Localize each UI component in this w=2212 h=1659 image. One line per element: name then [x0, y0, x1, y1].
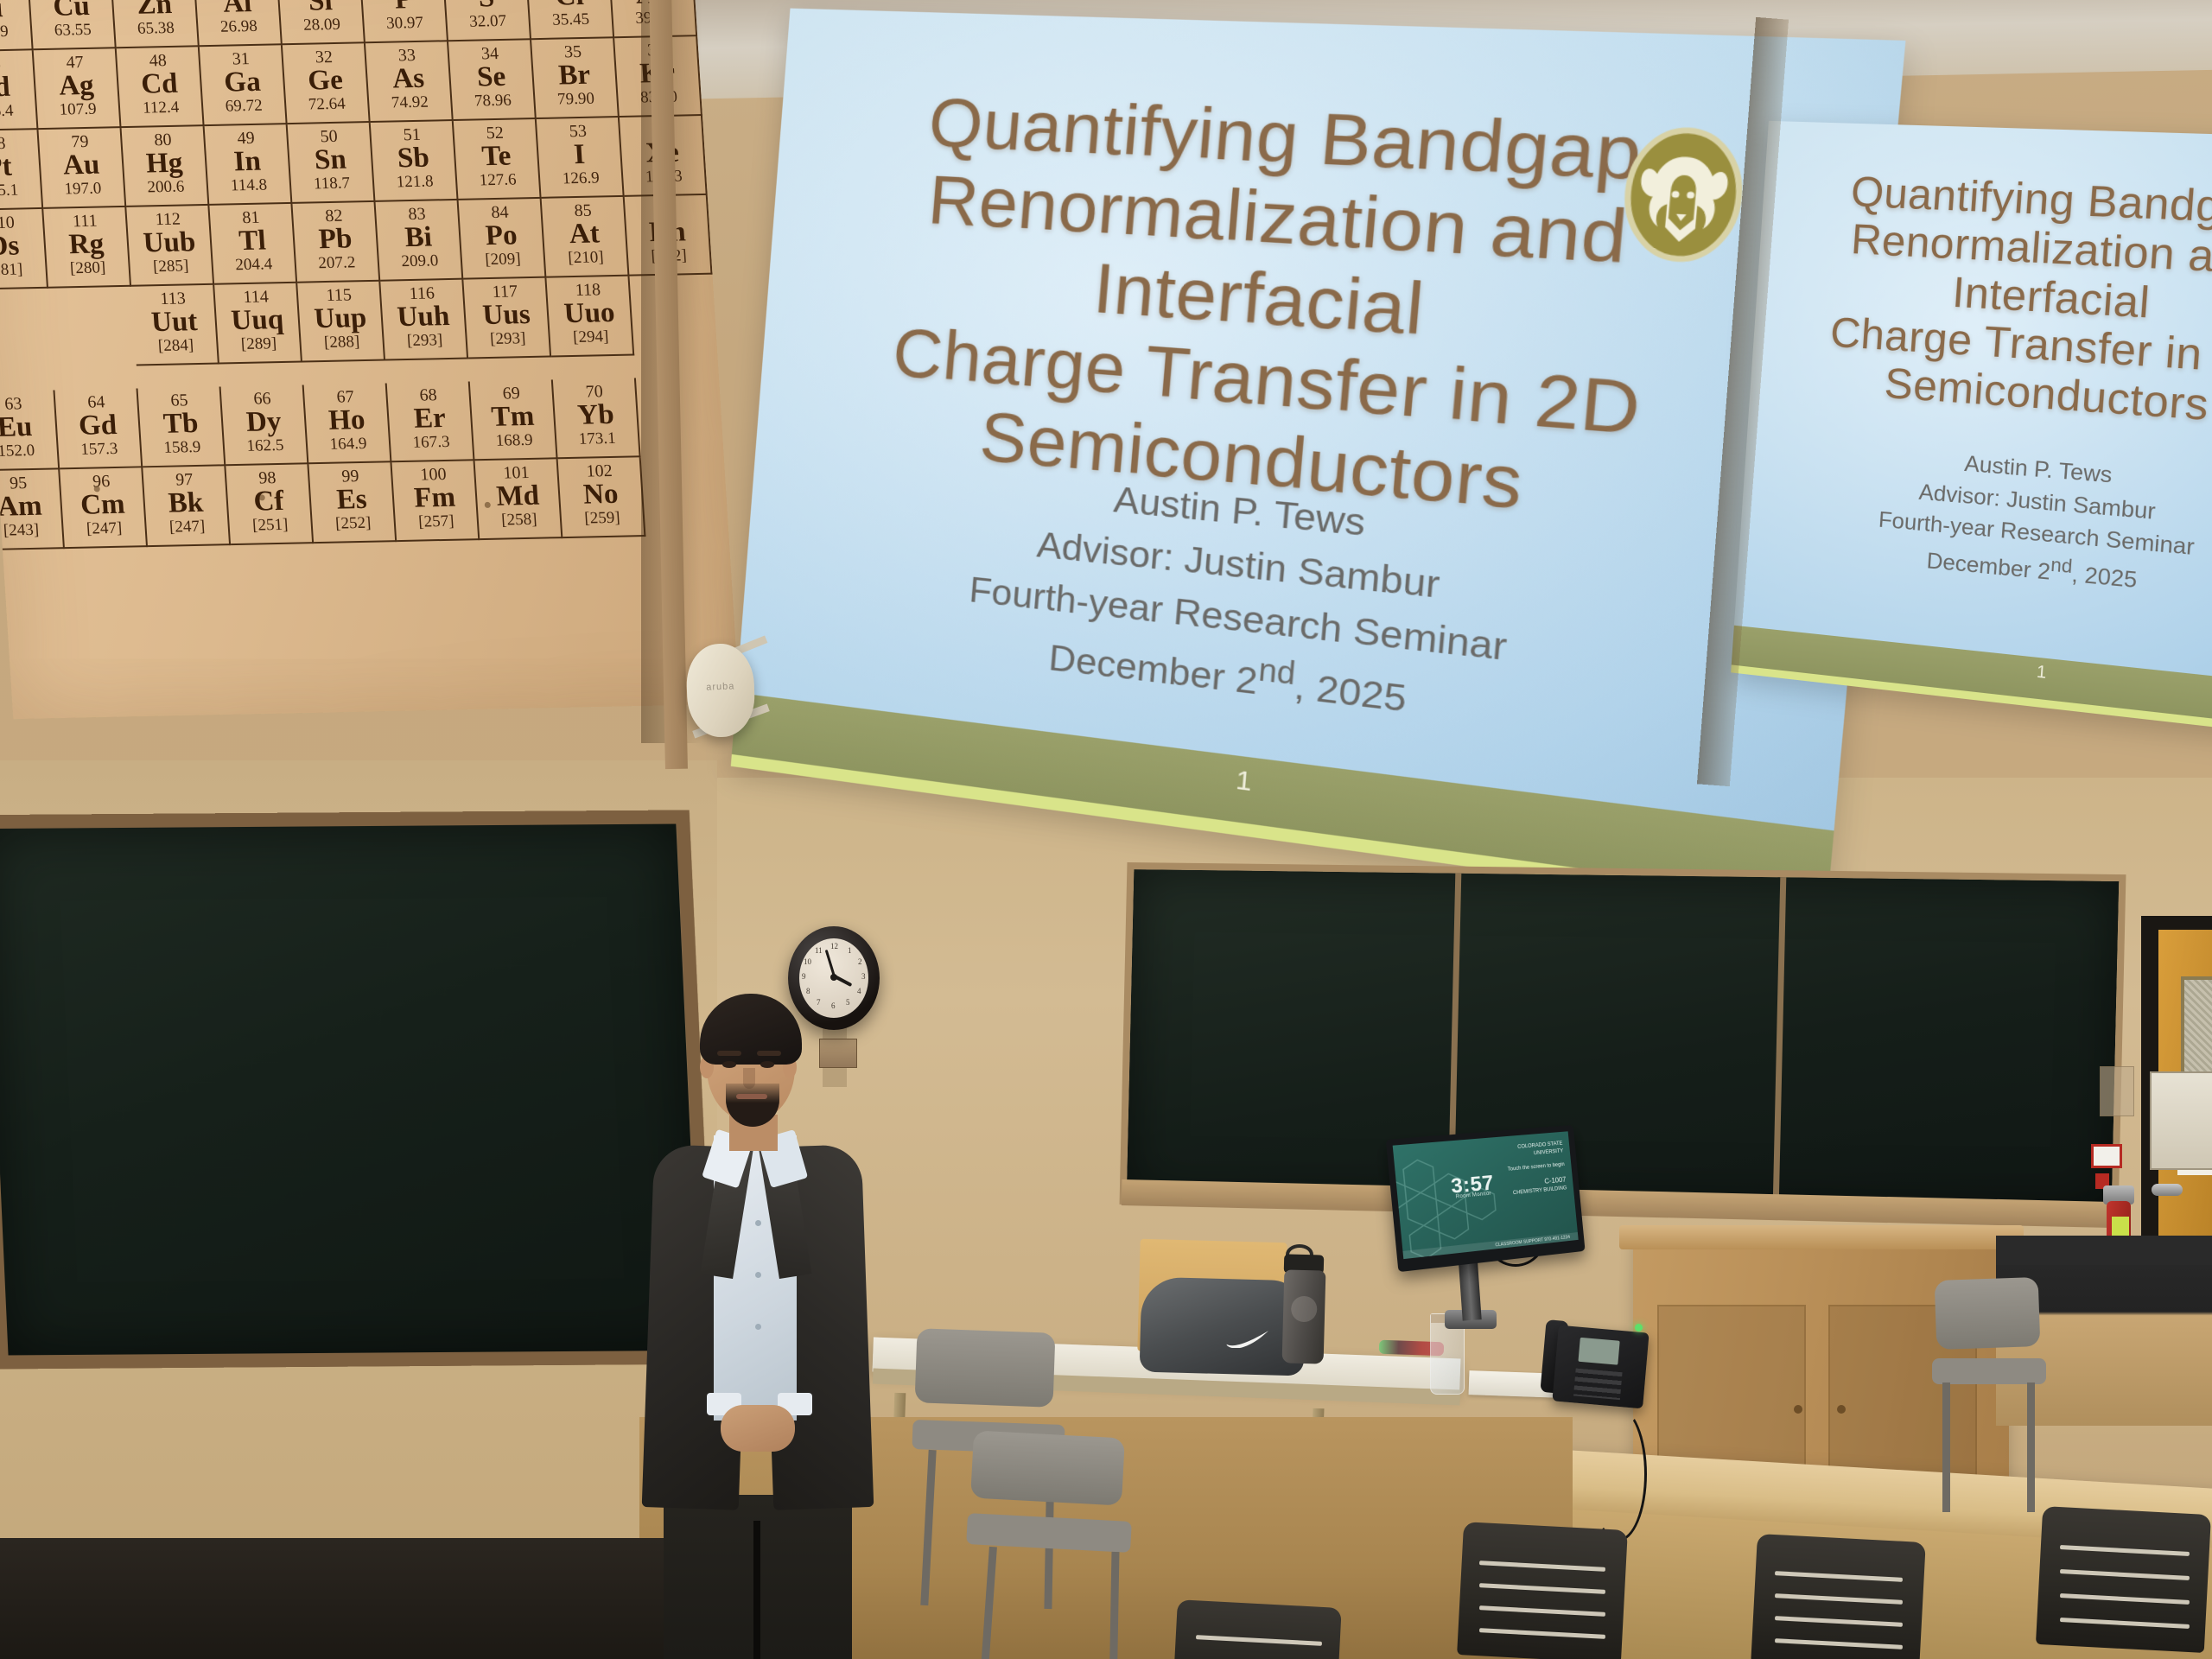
pt-atomic-number: 33 [365, 41, 448, 65]
floor-shadow-left [0, 1538, 674, 1659]
pt-atomic-number: 51 [371, 121, 454, 144]
pt-atomic-mass: 168.9 [474, 431, 556, 451]
pt-cell-Ds: 110Ds[281] [0, 209, 48, 290]
pt-atomic-mass: 107.9 [36, 100, 118, 120]
nike-backpack[interactable] [1140, 1277, 1306, 1376]
pt-atomic-mass: [247] [63, 519, 145, 539]
pt-cell-Yb: 70Yb173.1 [553, 378, 641, 459]
slide-title-secondary: Quantifying Bandgap Renormalization and … [1750, 166, 2212, 444]
pt-atomic-number: 118 [546, 276, 629, 300]
pt-symbol: Po [460, 220, 543, 252]
presenter [646, 994, 871, 1659]
pt-atomic-mass: 162.5 [224, 436, 306, 456]
projection-area: Quantifying Bandgap Renormalization and … [760, 0, 2212, 812]
slide-number: 1 [1235, 765, 1254, 798]
pt-atomic-number: 50 [288, 123, 371, 146]
pt-atomic-mass: 158.9 [141, 438, 223, 458]
pt-atomic-mass: [280] [47, 258, 129, 278]
pt-symbol: Am [0, 491, 61, 523]
chalkboard-right [1120, 862, 2126, 1217]
poster-screw [485, 502, 491, 508]
pt-cell-Bk: 97Bk[247] [143, 466, 231, 547]
pt-symbol: Ho [305, 404, 388, 436]
pt-cell-Pt: 78Pt195.1 [0, 130, 43, 211]
presenter-mouth [736, 1094, 767, 1099]
shirt-button [755, 1324, 761, 1330]
pt-cell-Se: 34Se78.96 [448, 40, 537, 121]
pt-symbol: Cd [118, 68, 200, 100]
pt-cell-Pb: 82Pb207.2 [292, 202, 380, 283]
monitor-prompt: Touch the screen to begin [1508, 1161, 1566, 1174]
phone-keypad[interactable] [1573, 1369, 1623, 1401]
pt-atomic-mass: [257] [395, 512, 477, 532]
pt-cell-Es: 99Es[252] [308, 462, 397, 543]
pt-symbol: Bk [144, 487, 227, 519]
poster-board: 98B108B111B122B27Co58.9328Ni58.6929Cu63.… [0, 0, 740, 719]
pt-cell-As: 33As74.92 [365, 41, 454, 123]
pt-atomic-mass: 204.4 [213, 255, 295, 275]
clock-numeral: 2 [858, 957, 862, 966]
pt-atomic-number: 53 [537, 118, 620, 141]
pt-symbol: Rg [45, 229, 128, 261]
pt-atomic-number: 35 [531, 38, 614, 61]
pt-symbol: Gd [56, 410, 139, 442]
clock-numeral: 9 [802, 972, 806, 981]
clock-numeral: 3 [861, 972, 866, 981]
pt-atomic-number: 78 [0, 130, 38, 153]
phone-display [1578, 1338, 1619, 1365]
pt-cell-Cu: 29Cu63.55 [29, 0, 117, 50]
pt-cell-Am: 95Am[243] [0, 469, 65, 550]
pt-atomic-mass: 74.92 [369, 93, 451, 113]
lecture-hall-scene: 98B108B111B122B27Co58.9328Ni58.6929Cu63.… [0, 0, 2212, 1659]
pt-symbol: Uut [133, 307, 216, 339]
pt-symbol: Pd [0, 72, 35, 104]
monitor-screen[interactable]: 3:57 Room Monitor COLORADO STATE UNIVERS… [1393, 1131, 1579, 1259]
pt-symbol: Dy [222, 406, 305, 438]
pt-symbol: Uuq [216, 305, 299, 337]
nike-swoosh-icon [1225, 1331, 1270, 1348]
desk-phone[interactable] [1552, 1325, 1649, 1409]
pt-atomic-mass: [209] [461, 250, 543, 270]
pt-row: 94Pu[224]95Am[243]96Cm[247]97Bk[247]98Cf… [0, 455, 729, 552]
pt-atomic-mass: [284] [135, 336, 217, 356]
pt-symbol: Zn [113, 0, 196, 21]
slide-number: 1 [2036, 663, 2047, 683]
projection-screen-secondary: Quantifying Bandgap Renormalization and … [1731, 121, 2212, 746]
pt-cell-Hg: 80Hg200.6 [122, 126, 210, 207]
pt-atomic-number: 83 [376, 200, 459, 224]
clock-minute-hand [825, 950, 836, 976]
pt-atomic-mass: 72.64 [286, 95, 368, 115]
pt-atomic-mass: [259] [561, 509, 643, 529]
pt-atomic-number: 99 [308, 462, 391, 486]
pt-symbol: Uus [465, 300, 548, 332]
bottle-logo [1291, 1296, 1318, 1323]
pt-cell-Ni: 28Ni58.69 [0, 0, 34, 52]
chair-back [1935, 1277, 2041, 1350]
pt-symbol: Uuh [382, 302, 465, 334]
chair-back [1173, 1599, 1341, 1659]
pt-cell-Ga: 31Ga69.72 [200, 45, 288, 126]
pt-atomic-number: 95 [0, 469, 60, 493]
pt-atomic-number: 115 [297, 282, 380, 305]
pt-cell-Sn: 50Sn118.7 [288, 123, 376, 204]
pt-atomic-mass: [252] [312, 514, 394, 534]
pt-symbol: Cm [61, 489, 144, 521]
pt-atomic-mass: 112.4 [120, 99, 202, 118]
pt-symbol: Ag [35, 70, 118, 102]
pt-atomic-mass: 114.8 [207, 176, 289, 196]
pt-cell-Uus: 117Uus[293] [463, 278, 551, 359]
pt-symbol: Tl [211, 226, 294, 257]
pt-atomic-number: 101 [475, 459, 558, 482]
pt-cell-Cf: 98Cf[251] [226, 464, 314, 545]
pt-atomic-mass: [251] [229, 516, 311, 536]
pt-symbol: Uup [299, 303, 382, 335]
pt-atomic-mass: [281] [0, 260, 46, 280]
pt-atomic-number: 46 [0, 50, 33, 73]
pt-atomic-mass: [258] [478, 511, 560, 531]
pt-atomic-number: 112 [126, 206, 209, 229]
date-ordinal: nd [2050, 555, 2074, 577]
pt-cell-In: 49In114.8 [205, 124, 293, 206]
pt-atomic-number: 34 [448, 40, 531, 63]
pt-atomic-number: 64 [54, 389, 137, 412]
slide-subtitle-secondary: Austin P. Tews Advisor: Justin Sambur Fo… [1738, 432, 2212, 620]
pt-cell-Sb: 51Sb121.8 [371, 121, 459, 202]
pt-atomic-number: 65 [138, 387, 221, 410]
chair-seat [1932, 1358, 2046, 1384]
pt-symbol: Au [40, 149, 123, 181]
pt-cell-Fm: 100Fm[257] [391, 461, 480, 542]
pt-atomic-mass: [285] [130, 257, 212, 276]
pt-cell-Si: 14Si28.09 [277, 0, 365, 45]
pt-symbol: As [367, 63, 450, 95]
pt-atomic-mass: 152.0 [0, 442, 57, 461]
pt-atomic-number: 98 [226, 464, 308, 487]
pt-cell-Cd: 48Cd112.4 [117, 47, 205, 128]
pt-atomic-number: 116 [380, 280, 463, 303]
pt-atomic-mass: 35.45 [530, 10, 612, 30]
pt-atomic-number: 82 [292, 202, 375, 226]
pt-cell-Uub: 112Uub[285] [126, 206, 214, 287]
pt-cell-Al: 13Al26.98 [194, 0, 283, 47]
pt-atomic-mass: 126.9 [540, 169, 622, 189]
pt-cell-Tm: 69Tm168.9 [470, 379, 558, 461]
chalkboard-left [0, 810, 715, 1369]
pt-cell-Uuo: 118Uuo[294] [546, 276, 634, 358]
pt-atomic-mass: [294] [550, 327, 632, 347]
pt-atomic-mass: 118.7 [290, 175, 372, 194]
pt-cell-Uut: 113Uut[284] [131, 285, 219, 366]
pt-atomic-mass: 28.09 [281, 16, 363, 35]
pt-cell-Bi: 83Bi209.0 [376, 200, 464, 282]
presenter-eye [760, 1061, 774, 1068]
pt-symbol: Er [388, 403, 471, 435]
clock-center-pin [830, 974, 837, 981]
pt-symbol: Yb [554, 399, 637, 431]
pt-atomic-number: 97 [143, 466, 226, 489]
presenter-leg-gap [753, 1521, 760, 1659]
pt-atomic-number: 31 [200, 45, 283, 68]
pt-symbol: Cf [227, 486, 310, 518]
clock-numeral: 1 [848, 946, 852, 955]
pt-symbol: Ds [0, 231, 45, 263]
pt-cell-Au: 79Au197.0 [38, 128, 126, 209]
pt-atomic-number: 85 [542, 197, 625, 220]
clock-numeral: 12 [830, 942, 838, 950]
date-ordinal: nd [1257, 652, 1297, 691]
lectern-knob[interactable] [1794, 1405, 1802, 1414]
pt-symbol: In [206, 146, 289, 178]
lectern-touch-panel[interactable]: 3:57 Room Monitor COLORADO STATE UNIVERS… [1386, 1125, 1586, 1272]
pt-symbol: Uuo [548, 298, 631, 330]
lectern-knob[interactable] [1837, 1405, 1846, 1414]
chair-back [915, 1328, 1056, 1408]
presenter-eyebrow [717, 1051, 741, 1056]
pt-cell-Gd: 64Gd157.3 [54, 388, 143, 469]
pt-symbol: P [362, 0, 445, 16]
pt-atomic-mass: [247] [146, 518, 228, 537]
periodic-table-poster: 98B108B111B122B27Co58.9328Ni58.6929Cu63.… [0, 0, 740, 719]
pt-cell-empty [0, 289, 54, 370]
aruba-label: aruba [687, 681, 754, 694]
pt-symbol: Eu [0, 411, 56, 443]
pt-cell-Ag: 47Ag107.9 [34, 48, 122, 130]
pt-cell-Rg: 111Rg[280] [43, 207, 131, 289]
pt-atomic-number: 111 [43, 207, 126, 231]
pt-atomic-number: 81 [209, 204, 292, 227]
pt-symbol: At [543, 219, 626, 251]
chair-leg [2027, 1382, 2035, 1512]
pt-atomic-number: 69 [470, 379, 553, 403]
pt-atomic-number: 48 [117, 47, 200, 70]
pt-atomic-mass: [288] [301, 333, 383, 353]
pt-cell-Br: 35Br79.90 [531, 38, 620, 119]
pt-atomic-mass: 63.55 [32, 21, 114, 41]
pt-symbol: Cu [29, 0, 112, 22]
pt-symbol: Tm [471, 401, 554, 433]
pt-atomic-number: 63 [0, 391, 54, 414]
pt-cell-Eu: 63Eu152.0 [0, 391, 60, 472]
chair-back [970, 1430, 1125, 1505]
pt-symbol: Se [450, 61, 533, 93]
pt-atomic-mass: 78.96 [452, 92, 534, 111]
pt-cell-Uuq: 114Uuq[289] [214, 283, 302, 365]
pt-cell-empty [48, 287, 137, 368]
chalkboard-divider [1773, 877, 1787, 1205]
pt-cell-Ge: 32Ge72.64 [283, 43, 371, 124]
pt-atomic-number: 32 [283, 43, 365, 67]
pt-symbol: Al [196, 0, 279, 19]
presenter-hair [700, 994, 802, 1065]
pt-atomic-mass: 65.38 [115, 19, 197, 39]
poster-screw [94, 486, 100, 492]
pt-atomic-number: 67 [304, 383, 387, 406]
pt-symbol: Ni [0, 0, 30, 24]
pt-atomic-mass: 207.2 [296, 253, 378, 273]
pt-atomic-mass: 26.98 [198, 17, 280, 37]
pt-cell-Po: 84Po[209] [459, 199, 547, 280]
pt-atomic-number: 114 [214, 283, 297, 307]
pt-atomic-mass: 121.8 [373, 173, 455, 193]
door-handle[interactable] [2152, 1184, 2183, 1196]
pt-symbol: Uub [128, 227, 211, 259]
pt-symbol: Br [533, 60, 616, 92]
pt-atomic-mass: 167.3 [390, 433, 472, 453]
pt-atomic-number: 102 [558, 457, 641, 480]
pt-symbol: Pt [0, 151, 40, 183]
pt-cell-Te: 52Te127.6 [454, 119, 542, 200]
pt-atomic-number: 52 [454, 119, 537, 143]
pt-symbol: Ge [283, 65, 366, 97]
pt-symbol: I [537, 139, 620, 171]
pt-symbol: Hg [123, 148, 206, 180]
pt-cell-Uup: 115Uup[288] [297, 282, 385, 363]
pt-symbol: Sn [289, 144, 372, 176]
pt-symbol: Fm [393, 482, 476, 514]
corner-shelf [2150, 1071, 2212, 1170]
pt-symbol: No [559, 479, 642, 511]
pt-cell-No: 102No[259] [558, 457, 646, 538]
pt-atomic-mass: 195.1 [0, 181, 41, 201]
pt-atomic-mass: 30.97 [364, 14, 446, 34]
pt-atomic-mass: 58.69 [0, 22, 31, 42]
water-bottle[interactable] [1282, 1269, 1326, 1363]
pt-atomic-mass: [243] [0, 521, 62, 541]
pt-symbol: Tb [139, 408, 222, 440]
pt-atomic-number: 66 [221, 385, 304, 409]
pt-atomic-mass: 106.4 [0, 102, 36, 122]
pt-atomic-number: 49 [205, 124, 288, 148]
wall-plate [2100, 1066, 2134, 1116]
pt-symbol: Es [310, 484, 393, 516]
pt-cell-S: 16S32.07 [443, 0, 531, 41]
pt-symbol: Ga [200, 67, 283, 99]
pt-atomic-number: 113 [131, 285, 214, 308]
pt-atomic-number: 47 [34, 48, 117, 72]
pt-atomic-number: 79 [38, 128, 121, 151]
pt-atomic-mass: [289] [218, 334, 300, 354]
clock-numeral: 10 [804, 957, 811, 966]
pt-atomic-number: 84 [459, 199, 542, 222]
pt-cell-Cm: 96Cm[247] [60, 467, 148, 549]
pt-cell-P: 15P30.97 [360, 0, 448, 43]
pt-atomic-mass: 157.3 [58, 440, 140, 460]
shirt-button [755, 1220, 761, 1226]
pt-atomic-mass: 200.6 [124, 178, 207, 198]
pt-cell-Cl: 17Cl35.45 [526, 0, 614, 40]
pt-atomic-number: 68 [387, 381, 470, 404]
pt-cell-Md: 101Md[258] [475, 459, 563, 540]
pt-symbol: Te [454, 141, 537, 173]
pt-symbol: Bi [377, 222, 460, 254]
pt-atomic-mass: 127.6 [457, 171, 539, 191]
aruba-access-point: aruba [685, 643, 756, 739]
monitor-brand: COLORADO STATE UNIVERSITY Touch the scre… [1505, 1141, 1567, 1198]
pt-atomic-mass: 173.1 [556, 429, 639, 449]
pt-cell-Er: 68Er167.3 [387, 381, 475, 462]
pt-symbol: Pb [294, 224, 377, 256]
presenter-hands [721, 1405, 795, 1452]
pt-symbol: Sb [372, 143, 454, 175]
pt-cell-Pd: 46Pd106.4 [0, 50, 38, 131]
pt-atomic-mass: [210] [544, 248, 626, 268]
pt-atomic-number: 110 [0, 209, 43, 232]
pt-atomic-mass: 32.07 [447, 12, 529, 32]
lectern-top [1619, 1225, 2024, 1249]
pt-cell-Uuh: 116Uuh[293] [380, 280, 468, 361]
pt-atomic-mass: 164.9 [307, 435, 389, 454]
pt-atomic-mass: [293] [384, 331, 466, 351]
pt-cell-Dy: 66Dy162.5 [221, 385, 309, 466]
pt-atomic-mass: 209.0 [378, 251, 461, 271]
presenter-eyebrow [757, 1051, 781, 1056]
pt-atomic-number: 96 [60, 467, 143, 491]
pt-cell-Ho: 67Ho164.9 [304, 383, 392, 464]
pt-symbol: Si [279, 0, 362, 17]
poster-screw [259, 494, 265, 500]
pt-atomic-number: 100 [391, 461, 474, 484]
pt-atomic-mass: 79.90 [535, 90, 617, 110]
pt-atomic-mass: [293] [467, 329, 549, 349]
periodic-table-grid: 98B108B111B122B27Co58.9328Ni58.6929Cu63.… [0, 0, 729, 552]
chair-leg [1942, 1382, 1950, 1512]
pt-atomic-number: 80 [122, 126, 205, 149]
pt-cell-Tb: 65Tb158.9 [138, 386, 226, 467]
pt-atomic-number: 117 [463, 278, 546, 302]
pt-atomic-number: 70 [553, 378, 636, 401]
csu-rams-logo [1614, 120, 1753, 270]
side-counter-top [1996, 1236, 2212, 1265]
pt-cell-Zn: 30Zn65.38 [111, 0, 200, 48]
phone-status-led [1635, 1324, 1643, 1332]
pt-atomic-mass: 69.72 [203, 97, 285, 117]
phone-cable [1590, 1407, 1647, 1541]
clock-numeral: 11 [815, 946, 823, 955]
presenter-eye [722, 1061, 736, 1068]
pt-cell-I: 53I126.9 [537, 118, 625, 199]
pt-cell-Tl: 81Tl204.4 [209, 204, 297, 285]
shirt-button [755, 1272, 761, 1278]
fire-alarm-pull-station[interactable] [2091, 1144, 2122, 1168]
pt-cell-At: 85At[210] [542, 197, 630, 278]
pt-atomic-mass: 197.0 [41, 180, 124, 200]
